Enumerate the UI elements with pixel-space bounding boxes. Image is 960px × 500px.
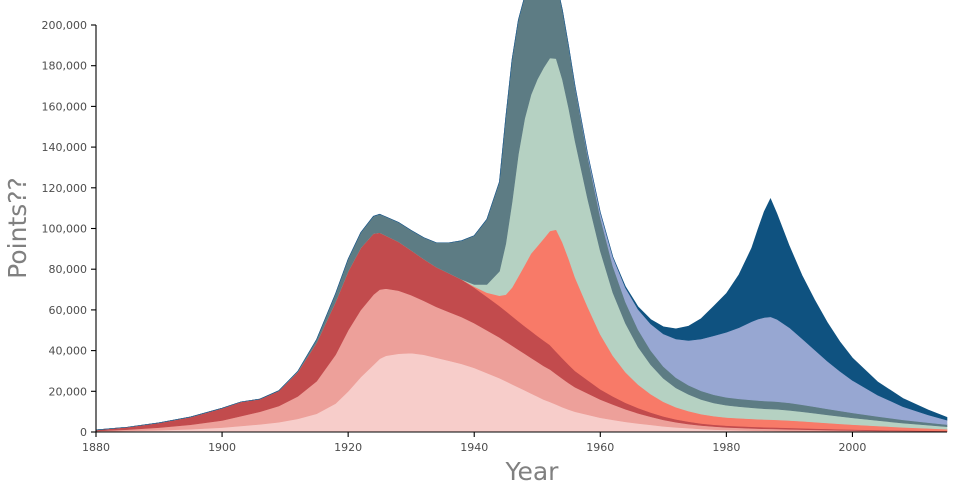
y-tick-label: 140,000	[42, 141, 88, 154]
chart-canvas: 020,00040,00060,00080,000100,000120,0001…	[0, 0, 960, 500]
x-tick-label: 1920	[334, 441, 362, 454]
y-tick-label: 120,000	[42, 182, 88, 195]
y-tick-label: 80,000	[49, 263, 88, 276]
x-tick-label: 2000	[838, 441, 866, 454]
x-tick-label: 1880	[82, 441, 110, 454]
y-tick-label: 20,000	[49, 385, 88, 398]
stacked-area-chart: 020,00040,00060,00080,000100,000120,0001…	[0, 0, 960, 500]
y-axis-title: Points??	[3, 177, 32, 279]
x-tick-label: 1980	[712, 441, 740, 454]
y-tick-label: 180,000	[42, 60, 88, 73]
y-tick-label: 200,000	[42, 19, 88, 32]
x-axis-title: Year	[505, 457, 560, 486]
y-tick-label: 100,000	[42, 223, 88, 236]
x-tick-label: 1960	[586, 441, 614, 454]
y-tick-label: 160,000	[42, 100, 88, 113]
y-tick-label: 0	[80, 426, 87, 439]
x-tick-label: 1900	[208, 441, 236, 454]
y-tick-label: 40,000	[49, 345, 88, 358]
x-tick-label: 1940	[460, 441, 488, 454]
y-tick-label: 60,000	[49, 304, 88, 317]
